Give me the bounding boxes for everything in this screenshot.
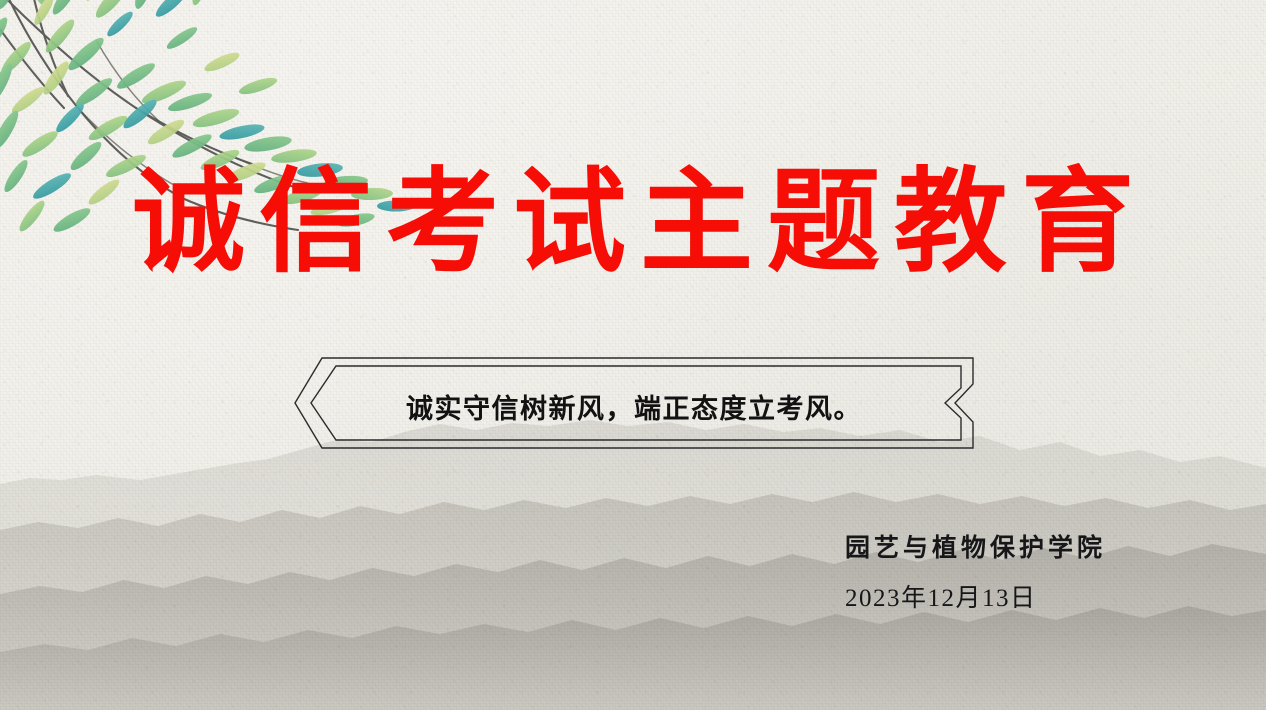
presentation-slide: 诚信考试主题教育 诚实守信树新风，端正态度立考风。 园艺与植物保护学院 2023…: [0, 0, 1266, 710]
slide-title: 诚信考试主题教育: [0, 163, 1266, 282]
organization-name: 园艺与植物保护学院: [845, 528, 1106, 564]
slide-subtitle: 诚实守信树新风，端正态度立考风。: [291, 354, 977, 452]
presentation-date: 2023年12月13日: [845, 578, 1106, 614]
subtitle-banner: 诚实守信树新风，端正态度立考风。: [291, 354, 977, 452]
slide-footer: 园艺与植物保护学院 2023年12月13日: [845, 528, 1106, 614]
